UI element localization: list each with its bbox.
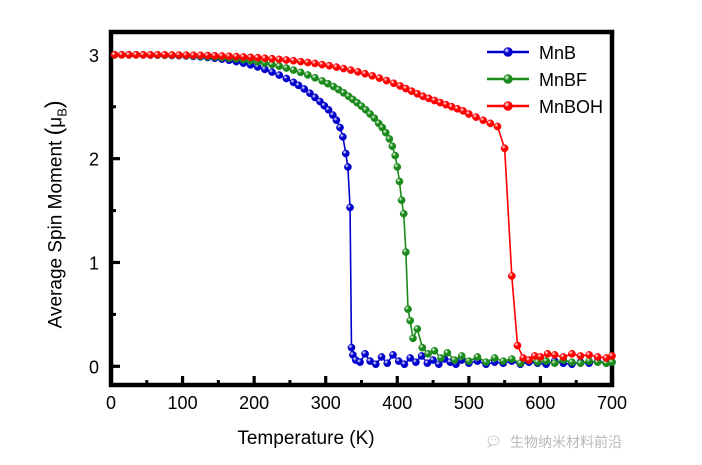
legend-item-mnb[interactable]: MnB bbox=[487, 43, 576, 63]
legend-marker bbox=[504, 48, 513, 57]
x-tick-label: 600 bbox=[525, 393, 555, 413]
data-point bbox=[276, 71, 283, 78]
x-tick-label: 300 bbox=[311, 393, 341, 413]
data-point bbox=[500, 358, 507, 365]
y-axis-title-main: Average Spin Moment bbox=[46, 141, 67, 329]
data-point bbox=[501, 145, 508, 152]
data-point bbox=[508, 355, 515, 362]
data-point bbox=[147, 51, 154, 58]
y-axis-unit-close: ) bbox=[41, 100, 67, 108]
legend-marker bbox=[504, 102, 513, 111]
data-point bbox=[551, 351, 558, 358]
data-point bbox=[594, 353, 601, 360]
data-point bbox=[386, 135, 393, 142]
data-point bbox=[304, 59, 311, 66]
data-point bbox=[283, 64, 290, 71]
data-point bbox=[290, 67, 297, 74]
legend-label: MnB bbox=[539, 43, 576, 63]
legend-marker bbox=[504, 75, 513, 84]
data-point bbox=[568, 350, 575, 357]
data-point bbox=[465, 110, 472, 117]
data-point bbox=[474, 353, 481, 360]
x-tick-label: 500 bbox=[454, 393, 484, 413]
data-point bbox=[276, 56, 283, 63]
data-point bbox=[480, 117, 487, 124]
data-point bbox=[111, 51, 118, 58]
data-point bbox=[225, 53, 232, 60]
data-point bbox=[326, 62, 333, 69]
figure-container: 0100200300400500600700 0123 MnBMnBFMnBOH… bbox=[0, 0, 702, 465]
y-axis-title: Average Spin Moment (μB) bbox=[41, 14, 70, 414]
data-point bbox=[401, 361, 408, 368]
data-point bbox=[333, 117, 340, 124]
legend-item-mnboh[interactable]: MnBOH bbox=[487, 97, 603, 117]
data-point bbox=[544, 350, 551, 357]
data-point bbox=[418, 352, 425, 359]
data-point bbox=[419, 344, 426, 351]
x-tick-label: 0 bbox=[106, 393, 116, 413]
data-point bbox=[383, 77, 390, 84]
y-tick-label: 2 bbox=[89, 150, 99, 170]
series-line bbox=[115, 55, 612, 364]
data-point bbox=[297, 69, 304, 76]
data-point bbox=[132, 51, 139, 58]
data-point bbox=[514, 342, 521, 349]
data-point bbox=[356, 359, 363, 366]
data-point bbox=[339, 133, 346, 140]
data-point bbox=[369, 72, 376, 79]
data-point bbox=[261, 55, 268, 62]
data-point bbox=[319, 61, 326, 68]
x-tick-label: 400 bbox=[382, 393, 412, 413]
x-tick-label: 200 bbox=[239, 393, 269, 413]
data-point bbox=[344, 163, 351, 170]
data-point bbox=[140, 51, 147, 58]
data-point bbox=[389, 351, 396, 358]
data-point bbox=[333, 63, 340, 70]
data-point bbox=[354, 68, 361, 75]
data-point bbox=[197, 52, 204, 59]
data-point bbox=[402, 249, 409, 256]
data-point bbox=[348, 344, 355, 351]
spin-moment-line-chart: 0100200300400500600700 0123 MnBMnBFMnBOH bbox=[0, 0, 702, 465]
data-point bbox=[577, 360, 584, 367]
data-point bbox=[161, 51, 168, 58]
data-point bbox=[451, 356, 458, 363]
data-point bbox=[233, 53, 240, 60]
data-point bbox=[392, 152, 399, 159]
data-point bbox=[211, 52, 218, 59]
data-point bbox=[290, 57, 297, 64]
data-point bbox=[537, 353, 544, 360]
data-point bbox=[414, 325, 421, 332]
data-point bbox=[283, 56, 290, 63]
data-point bbox=[396, 178, 403, 185]
y-tick-label: 0 bbox=[89, 357, 99, 377]
y-axis-unit-open: ( bbox=[41, 128, 67, 136]
axes-frame bbox=[111, 32, 612, 385]
data-point bbox=[336, 124, 343, 131]
wechat-icon bbox=[487, 435, 504, 449]
data-point bbox=[183, 52, 190, 59]
data-point bbox=[311, 60, 318, 67]
legend-item-mnbf[interactable]: MnBF bbox=[487, 70, 587, 90]
data-point bbox=[390, 80, 397, 87]
data-point bbox=[608, 352, 615, 359]
data-point bbox=[154, 51, 161, 58]
data-point bbox=[304, 71, 311, 78]
data-point bbox=[404, 306, 411, 313]
data-point bbox=[297, 58, 304, 65]
data-point bbox=[437, 354, 444, 361]
data-point bbox=[175, 51, 182, 58]
data-point bbox=[465, 358, 472, 365]
data-point bbox=[254, 54, 261, 61]
data-point bbox=[487, 120, 494, 127]
data-point bbox=[283, 75, 290, 82]
data-point bbox=[311, 74, 318, 81]
data-point bbox=[508, 272, 515, 279]
x-tick-label: 700 bbox=[597, 393, 627, 413]
data-point bbox=[585, 351, 592, 358]
data-point bbox=[168, 51, 175, 58]
x-axis-tick-labels: 0100200300400500600700 bbox=[106, 393, 627, 413]
data-point bbox=[268, 55, 275, 62]
data-point bbox=[472, 114, 479, 121]
data-point bbox=[372, 361, 379, 368]
data-point bbox=[384, 360, 391, 367]
data-point bbox=[560, 353, 567, 360]
data-point bbox=[218, 52, 225, 59]
data-point bbox=[431, 347, 438, 354]
data-point bbox=[125, 51, 132, 58]
data-point bbox=[494, 123, 501, 130]
data-point bbox=[412, 359, 419, 366]
data-point bbox=[342, 150, 349, 157]
y-axis-unit-symbol: μ bbox=[46, 117, 67, 128]
data-point bbox=[240, 53, 247, 60]
data-point bbox=[361, 70, 368, 77]
series-line bbox=[115, 55, 612, 363]
data-point bbox=[346, 204, 353, 211]
data-point bbox=[190, 52, 197, 59]
data-point bbox=[568, 359, 575, 366]
legend-label: MnBOH bbox=[539, 97, 603, 117]
data-point bbox=[458, 352, 465, 359]
data-point bbox=[340, 65, 347, 72]
data-point bbox=[394, 163, 401, 170]
data-point bbox=[118, 51, 125, 58]
data-point bbox=[551, 360, 558, 367]
y-tick-label: 1 bbox=[89, 253, 99, 273]
data-point bbox=[400, 210, 407, 217]
watermark-text: 生物纳米材料前沿 bbox=[510, 432, 622, 452]
data-point bbox=[347, 67, 354, 74]
chart-legend: MnBMnBFMnBOH bbox=[487, 43, 603, 117]
x-tick-label: 100 bbox=[168, 393, 198, 413]
legend-label: MnBF bbox=[539, 70, 587, 90]
data-point bbox=[482, 359, 489, 366]
data-point bbox=[361, 350, 368, 357]
data-point bbox=[577, 352, 584, 359]
data-point bbox=[444, 349, 451, 356]
y-tick-label: 3 bbox=[89, 46, 99, 66]
data-point bbox=[378, 353, 385, 360]
data-point bbox=[247, 54, 254, 61]
data-point bbox=[407, 317, 414, 324]
data-point bbox=[268, 68, 275, 75]
data-point bbox=[204, 52, 211, 59]
data-point bbox=[382, 129, 389, 136]
series-line bbox=[115, 55, 612, 360]
y-axis-tick-labels: 0123 bbox=[89, 46, 99, 377]
data-point bbox=[376, 74, 383, 81]
data-point bbox=[409, 335, 416, 342]
y-axis-unit-subscript: B bbox=[54, 108, 69, 117]
data-point bbox=[389, 143, 396, 150]
data-point bbox=[398, 197, 405, 204]
data-point bbox=[276, 63, 283, 70]
data-point bbox=[491, 354, 498, 361]
data-point bbox=[424, 350, 431, 357]
watermark: 生物纳米材料前沿 bbox=[487, 432, 622, 452]
